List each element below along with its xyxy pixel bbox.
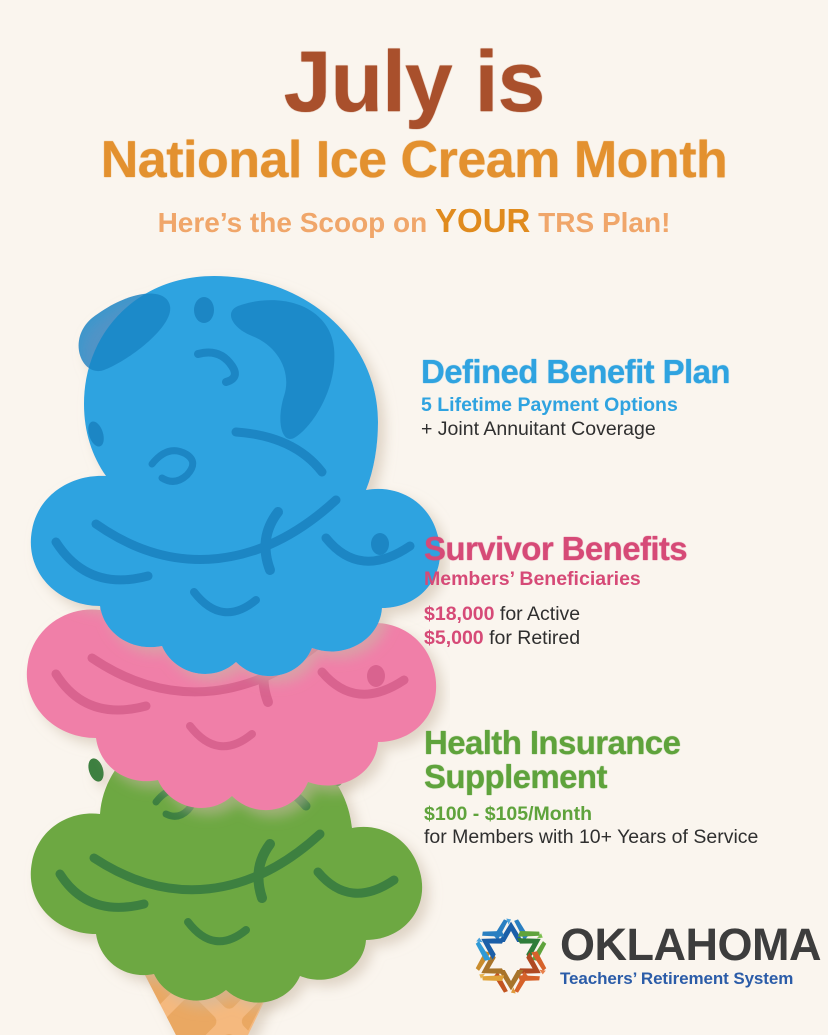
trs-logo: OKLAHOMA Teachers’ Retirement System xyxy=(472,916,782,996)
benefit-amount-active-label: for Active xyxy=(495,603,581,625)
headline-secondary: National Ice Cream Month xyxy=(0,134,828,186)
benefit-amounts: $100 - $105/Month for Members with 10+ Y… xyxy=(424,803,758,851)
benefit-amount-monthly: $100 - $105/Month xyxy=(424,803,592,825)
tagline: Here’s the Scoop on YOUR TRS Plan! xyxy=(0,204,828,237)
tagline-part-1: Here’s the Scoop on xyxy=(158,207,435,238)
benefit-heading-line-1: Health Insurance xyxy=(424,726,758,760)
benefit-detail: + Joint Annuitant Coverage xyxy=(421,418,730,442)
poster-header: July is National Ice Cream Month Here’s … xyxy=(0,0,828,237)
logo-text-group: OKLAHOMA Teachers’ Retirement System xyxy=(560,923,821,989)
benefit-amount-row: $5,000 for Retired xyxy=(424,627,687,651)
headline-primary: July is xyxy=(0,42,828,124)
benefit-block-health-insurance-supplement: Health Insurance Supplement $100 - $105/… xyxy=(424,726,758,850)
benefit-subheading: 5 Lifetime Payment Options xyxy=(421,394,730,418)
poster-canvas: July is National Ice Cream Month Here’s … xyxy=(0,0,828,1035)
benefit-block-defined-benefit-plan: Defined Benefit Plan 5 Lifetime Payment … xyxy=(421,355,730,442)
benefit-amount-retired: $5,000 xyxy=(424,627,484,649)
benefit-detail: for Members with 10+ Years of Service xyxy=(424,826,758,850)
benefit-heading-line-2: Supplement xyxy=(424,760,758,794)
benefit-amount-row: $100 - $105/Month xyxy=(424,803,758,827)
tagline-accent: YOUR xyxy=(435,202,530,239)
benefit-amounts: $18,000 for Active $5,000 for Retired xyxy=(424,603,687,651)
logo-wordmark: OKLAHOMA xyxy=(560,923,821,967)
logo-tagline: Teachers’ Retirement System xyxy=(560,969,821,989)
benefit-block-survivor-benefits: Survivor Benefits Members’ Beneficiaries… xyxy=(424,532,687,651)
benefit-amount-row: $18,000 for Active xyxy=(424,603,687,627)
pinwheel-star-icon xyxy=(472,917,550,995)
benefit-heading: Defined Benefit Plan xyxy=(421,355,730,389)
benefit-amount-retired-label: for Retired xyxy=(484,627,580,649)
benefit-amount-active: $18,000 xyxy=(424,603,495,625)
benefit-subheading: Members’ Beneficiaries xyxy=(424,568,687,592)
ice-cream-illustration xyxy=(0,262,450,1035)
benefit-heading: Survivor Benefits xyxy=(424,532,687,566)
tagline-part-2: TRS Plan! xyxy=(530,207,670,238)
